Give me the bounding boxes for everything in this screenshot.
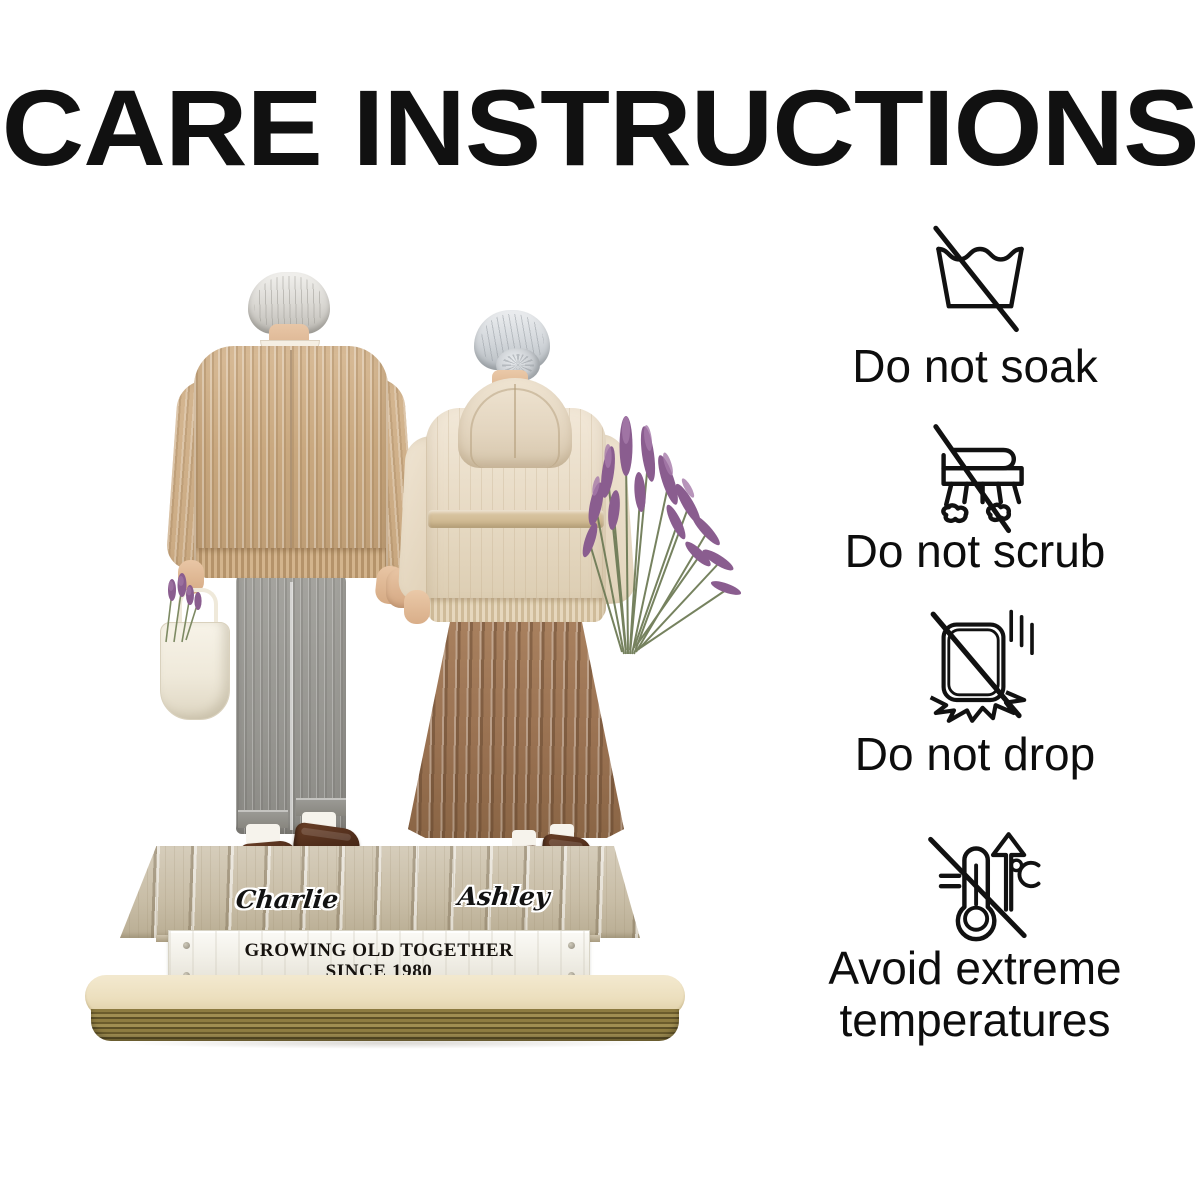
man-trousers	[236, 572, 346, 834]
care-label-do-not-soak: Do not soak	[760, 340, 1190, 392]
base-shadow	[115, 1037, 660, 1049]
plywood-base	[85, 975, 685, 1050]
no-extreme-temperature-icon	[915, 816, 1045, 946]
no-soak-icon	[915, 210, 1045, 340]
no-drop-icon	[915, 596, 1045, 726]
man-cardigan-hem	[196, 548, 386, 578]
man-cardigan	[194, 346, 388, 578]
name-label-left: Charlie	[234, 885, 339, 914]
care-instruction-list: Do not soak	[760, 205, 1190, 1135]
product-artwork: Charlie Ashley GROWING OLD TOGETHER SINC…	[60, 230, 720, 1050]
care-label-do-not-drop: Do not drop	[760, 728, 1190, 780]
no-scrub-icon	[915, 411, 1045, 541]
lavender-bouquet	[556, 358, 746, 658]
wooden-deck	[120, 846, 640, 938]
tote-lavender-sprigs	[152, 566, 218, 644]
page-title: CARE INSTRUCTIONS	[0, 74, 1200, 182]
woman-hood	[458, 378, 572, 468]
care-instructions-page: CARE INSTRUCTIONS	[0, 0, 1200, 1200]
woman-hand-left	[404, 590, 430, 624]
care-label-do-not-scrub: Do not scrub	[760, 525, 1190, 577]
care-label-avoid-extreme-temperatures: Avoid extreme temperatures	[760, 942, 1190, 1046]
name-label-right: Ashley	[456, 882, 551, 911]
